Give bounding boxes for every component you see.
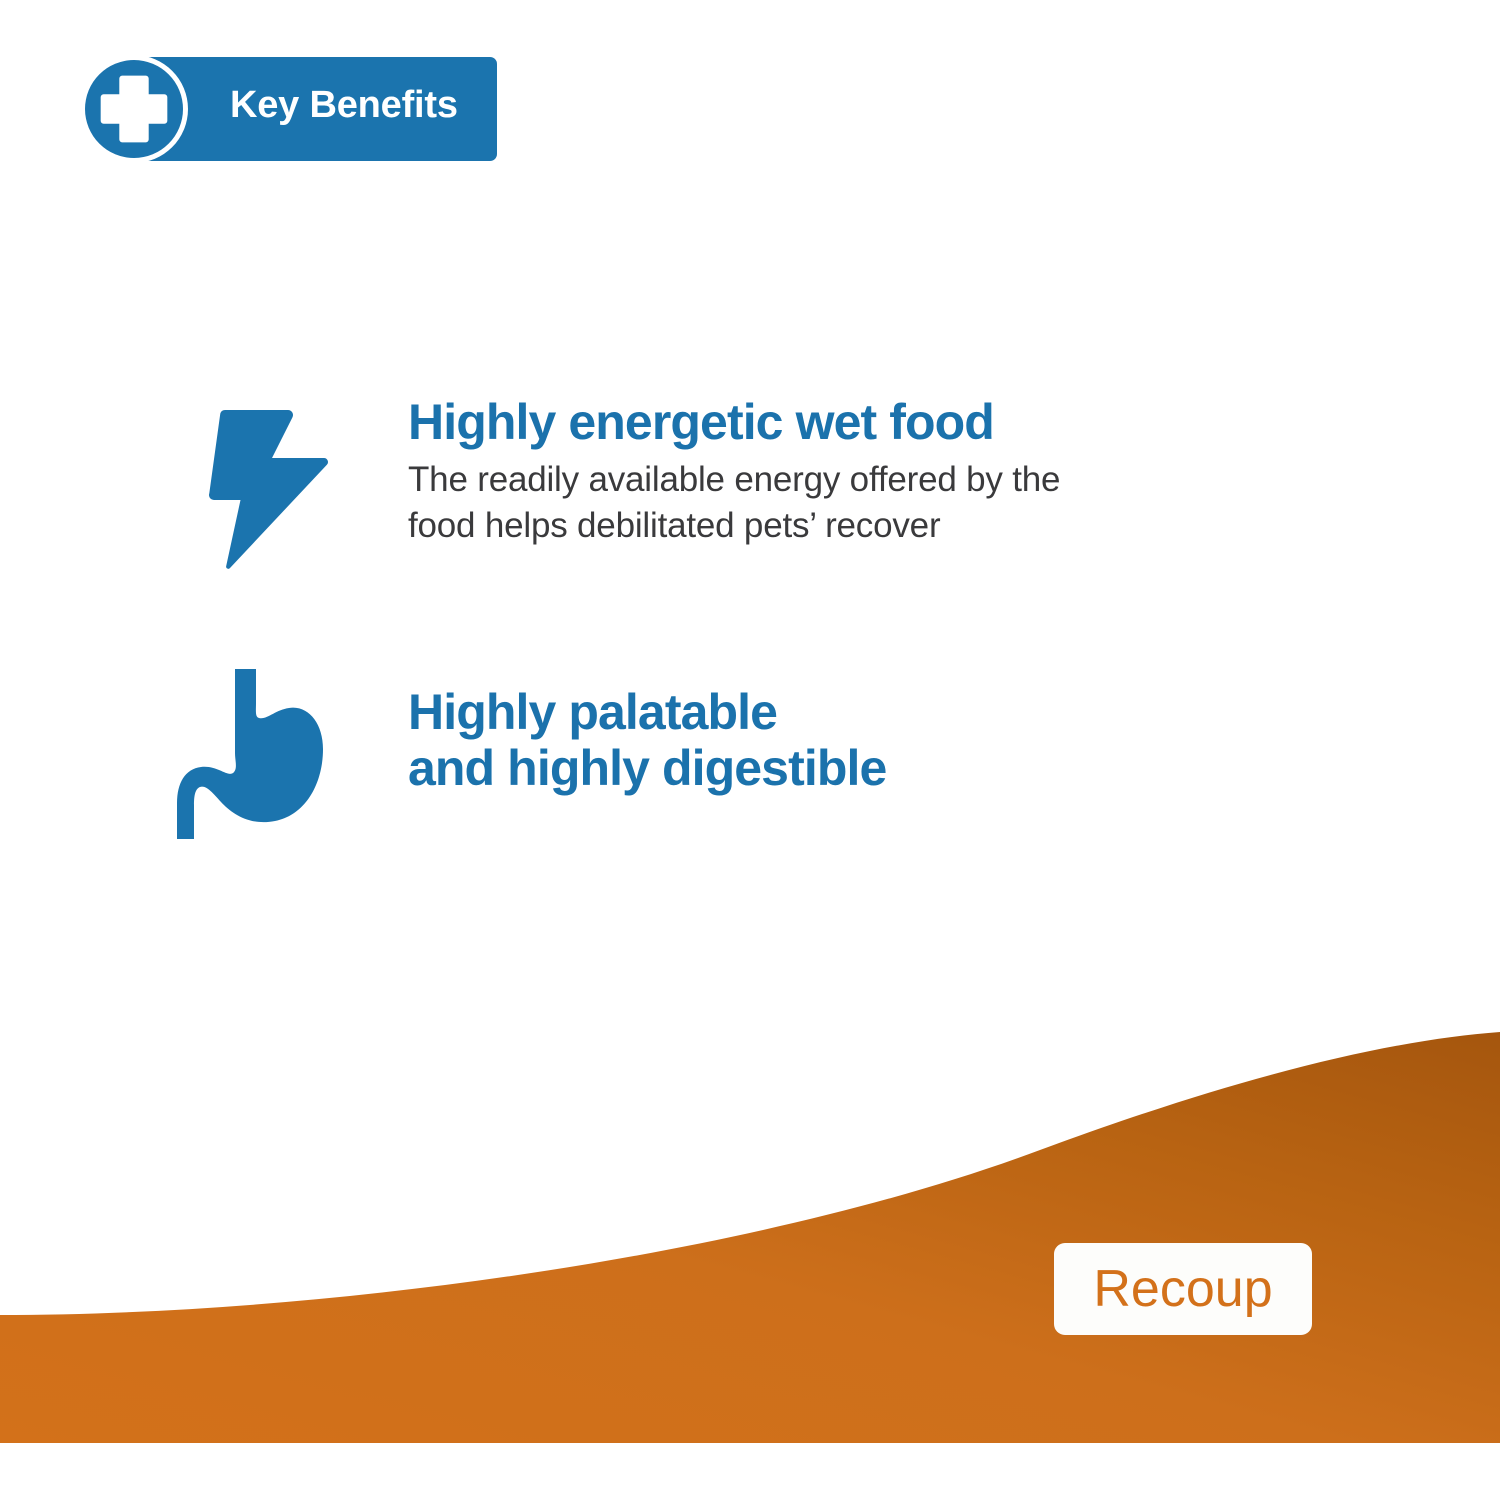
infographic-canvas: Key Benefits Highly energetic wet food T… <box>0 0 1500 1500</box>
benefit-text-energetic: Highly energetic wet food The readily av… <box>408 395 1208 550</box>
benefit-heading: Highly energetic wet food <box>408 395 1208 451</box>
benefit-body: The readily available energy offered by … <box>408 457 1208 550</box>
benefit-heading: Highly palatable and highly digestible <box>408 685 1198 796</box>
recoup-logo-text: Recoup <box>1093 1263 1272 1315</box>
lightning-bolt-icon <box>195 400 335 575</box>
key-benefits-badge: Key Benefits <box>80 55 500 165</box>
key-benefits-title: Key Benefits <box>230 84 458 127</box>
medical-cross-icon <box>85 60 183 158</box>
recoup-logo: Recoup <box>1054 1243 1312 1335</box>
stomach-icon <box>175 665 335 843</box>
benefit-text-palatable: Highly palatable and highly digestible <box>408 685 1198 796</box>
benefit-item-energetic: Highly energetic wet food The readily av… <box>195 395 1255 580</box>
benefit-item-palatable: Highly palatable and highly digestible <box>175 665 1235 845</box>
